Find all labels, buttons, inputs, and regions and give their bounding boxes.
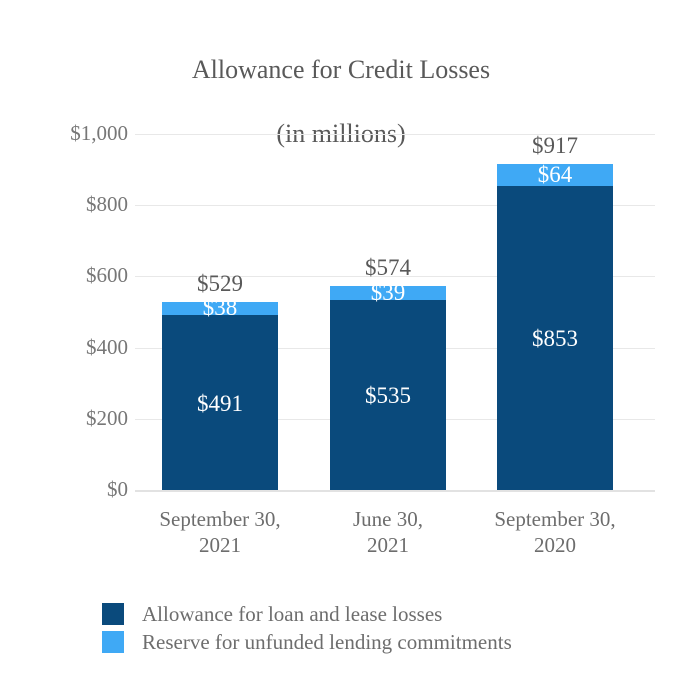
y-axis-tick-label: $1,000 [18, 123, 128, 144]
plot-area: $491$38$529$535$39$574$853$64$917 [135, 134, 655, 490]
x-axis-tick-label: September 30,2020 [467, 506, 643, 558]
legend-swatch [102, 603, 124, 625]
legend-swatch [102, 631, 124, 653]
y-axis-tick-label: $0 [18, 479, 128, 500]
legend-item[interactable]: Allowance for loan and lease losses [102, 600, 662, 628]
y-axis-tick-label: $800 [18, 194, 128, 215]
x-axis-tick-label-line: 2021 [132, 532, 308, 558]
bar-stack[interactable]: $491$38$529 [162, 302, 278, 490]
bar-stack[interactable]: $853$64$917 [497, 164, 613, 490]
bar-segment-label-allowance: $853 [497, 327, 613, 350]
bar-stack[interactable]: $535$39$574 [330, 286, 446, 490]
chart-legend: Allowance for loan and lease lossesReser… [102, 600, 662, 656]
x-axis: September 30,2021June 30,2021September 3… [0, 500, 682, 570]
x-axis-tick-label: September 30,2021 [132, 506, 308, 558]
bar-total-label: $574 [330, 256, 446, 279]
legend-item[interactable]: Reserve for unfunded lending commitments [102, 628, 662, 656]
axis-baseline [135, 490, 655, 492]
bar-segment-label-allowance: $491 [162, 392, 278, 415]
y-axis: $1,000$800$600$400$200$0 [10, 0, 128, 700]
x-axis-tick-label-line: September 30, [467, 506, 643, 532]
x-axis-tick-label-line: June 30, [300, 506, 476, 532]
bar-total-label: $529 [162, 272, 278, 295]
y-axis-tick-label: $400 [18, 337, 128, 358]
bar-segment-label-reserve: $64 [497, 163, 613, 186]
legend-item-label: Allowance for loan and lease losses [142, 602, 442, 626]
y-axis-tick-label: $600 [18, 265, 128, 286]
x-axis-tick-label-line: September 30, [132, 506, 308, 532]
legend-item-label: Reserve for unfunded lending commitments [142, 630, 512, 654]
x-axis-tick-label-line: 2021 [300, 532, 476, 558]
bar-total-label: $917 [497, 134, 613, 157]
y-axis-tick-label: $200 [18, 408, 128, 429]
bar-segment-label-reserve: $39 [330, 281, 446, 304]
bar-segment-label-allowance: $535 [330, 384, 446, 407]
bar-segment-label-reserve: $38 [162, 296, 278, 319]
x-axis-tick-label: June 30,2021 [300, 506, 476, 558]
x-axis-tick-label-line: 2020 [467, 532, 643, 558]
